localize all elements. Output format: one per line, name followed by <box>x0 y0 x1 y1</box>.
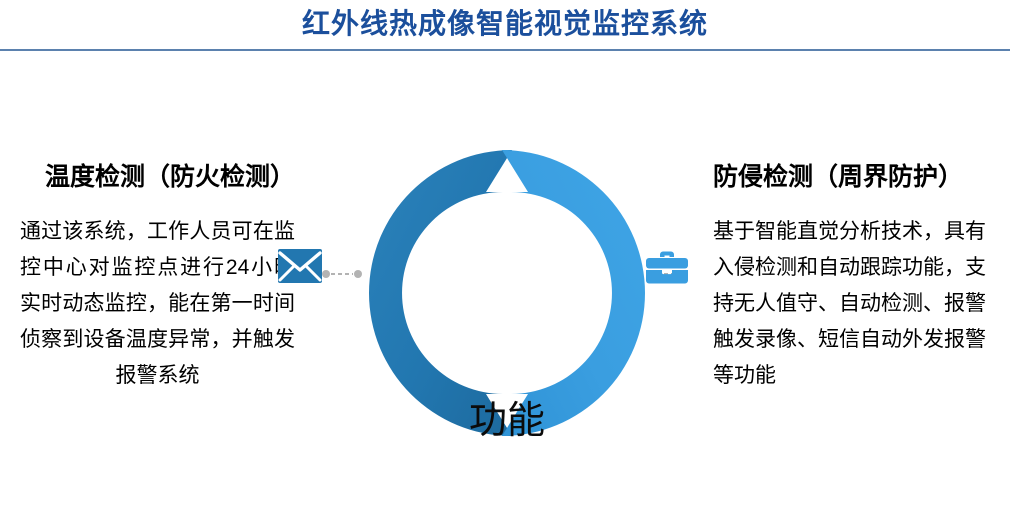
cycle-diagram-graphic <box>362 148 652 438</box>
envelope-icon <box>278 249 322 283</box>
panel-right: 防侵检测（周界防护） 基于智能直觉分析技术，具有入侵检测和自动跟踪功能，支持无人… <box>713 160 1010 394</box>
briefcase-icon <box>645 249 689 285</box>
envelope-icon-wrap <box>278 249 322 283</box>
cycle-diagram: 1 2 功能 <box>362 148 652 438</box>
panel-left-heading: 温度检测（防火检测） <box>22 160 318 194</box>
panel-right-body: 基于智能直觉分析技术，具有入侵检测和自动跟踪功能，支持无人值守、自动检测、报警触… <box>713 214 998 394</box>
cycle-center-label: 功能 <box>362 401 652 441</box>
connector-left <box>322 268 366 280</box>
page-title: 红外线热成像智能视觉监控系统 <box>0 5 1010 43</box>
briefcase-icon-wrap <box>645 249 689 285</box>
title-divider <box>0 49 1010 51</box>
panel-left-body: 通过该系统，工作人员可在监控中心对监控点进行24小时实时动态监控，能在第一时间侦… <box>20 214 295 394</box>
cycle-center-disc <box>435 221 579 365</box>
panel-right-heading: 防侵检测（周界防护） <box>713 160 1010 194</box>
slide-canvas: 红外线热成像智能视觉监控系统 温度检测（防火检测） 通过该系统，工作人员可在监控… <box>0 0 1010 511</box>
panel-left: 温度检测（防火检测） 通过该系统，工作人员可在监控中心对监控点进行24小时实时动… <box>18 160 318 394</box>
